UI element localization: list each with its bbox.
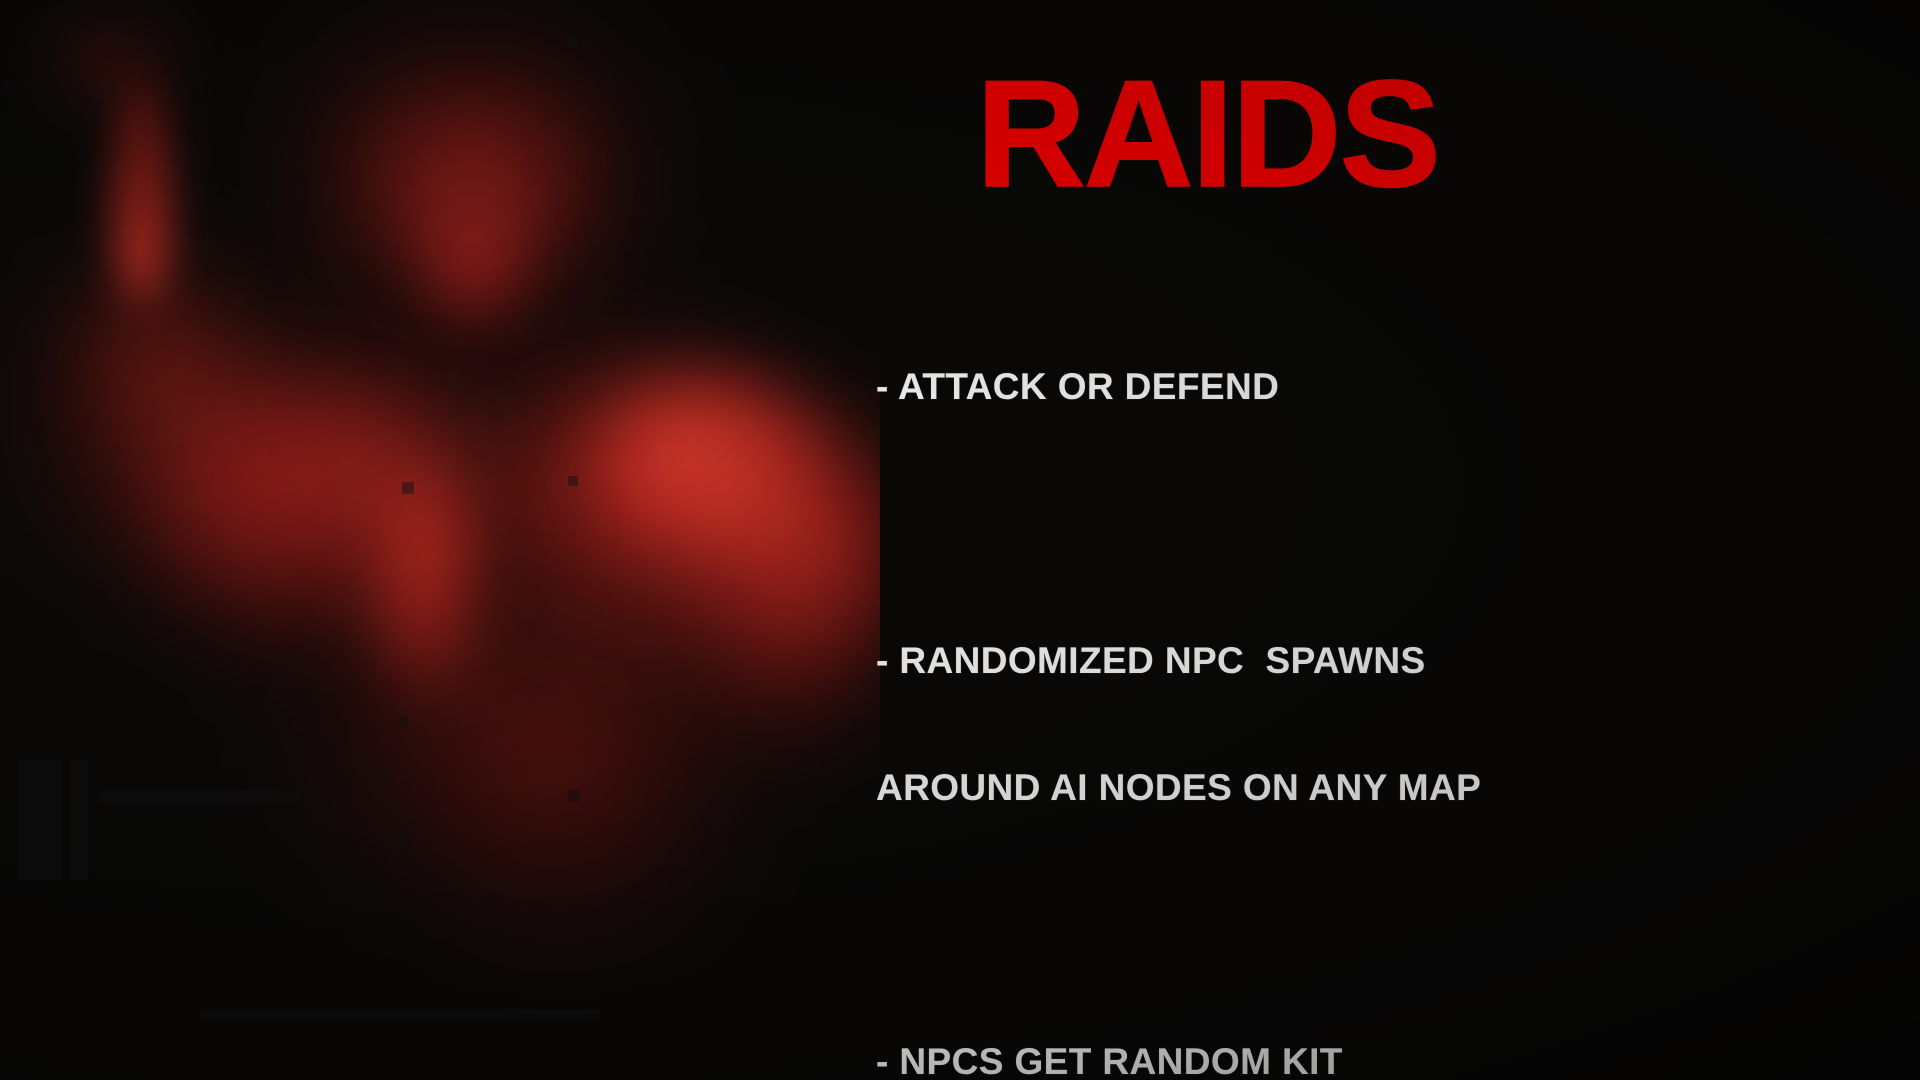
background-artifact <box>398 716 408 726</box>
background-artifact <box>200 1010 600 1020</box>
background-artifact <box>568 38 578 48</box>
background-artifact <box>18 760 62 880</box>
background-artifact <box>100 790 300 804</box>
bullet-item: - ATTACK OR DEFEND <box>876 282 1876 493</box>
slide-title: RAIDS <box>976 58 1439 210</box>
artwork-blurred-red-figure <box>0 0 880 1080</box>
bullet-line: AROUND AI NODES ON ANY MAP <box>876 767 1876 809</box>
bullet-item: - NPCS GET RANDOM KIT <box>876 956 1876 1080</box>
feature-bullet-list: - ATTACK OR DEFEND - RANDOMIZED NPC SPAW… <box>876 282 1876 1080</box>
background-artifact <box>70 760 88 880</box>
background-artifact <box>398 836 408 846</box>
figure-right-arm-highlight <box>770 450 880 650</box>
figure-helmet-shadow <box>470 258 514 336</box>
figure-forearm <box>112 80 172 310</box>
bullet-item: - RANDOMIZED NPC SPAWNS AROUND AI NODES … <box>876 556 1876 893</box>
figure-lower-glow <box>540 760 740 1080</box>
bullet-line: - NPCS GET RANDOM KIT <box>876 1041 1876 1080</box>
background-artifact <box>568 476 578 486</box>
figure-raised-hand <box>62 42 172 84</box>
figure-center-shadow <box>330 470 530 620</box>
background-artifact <box>568 790 580 802</box>
figure-neck-shadow <box>340 350 540 480</box>
bullet-line: - RANDOMIZED NPC SPAWNS <box>876 640 1876 682</box>
slide-canvas: RAIDS - ATTACK OR DEFEND - RANDOMIZED NP… <box>0 0 1920 1080</box>
bullet-line: - ATTACK OR DEFEND <box>876 366 1876 408</box>
background-artifact <box>402 482 414 494</box>
content-column: RAIDS - ATTACK OR DEFEND - RANDOMIZED NP… <box>876 0 1920 1080</box>
